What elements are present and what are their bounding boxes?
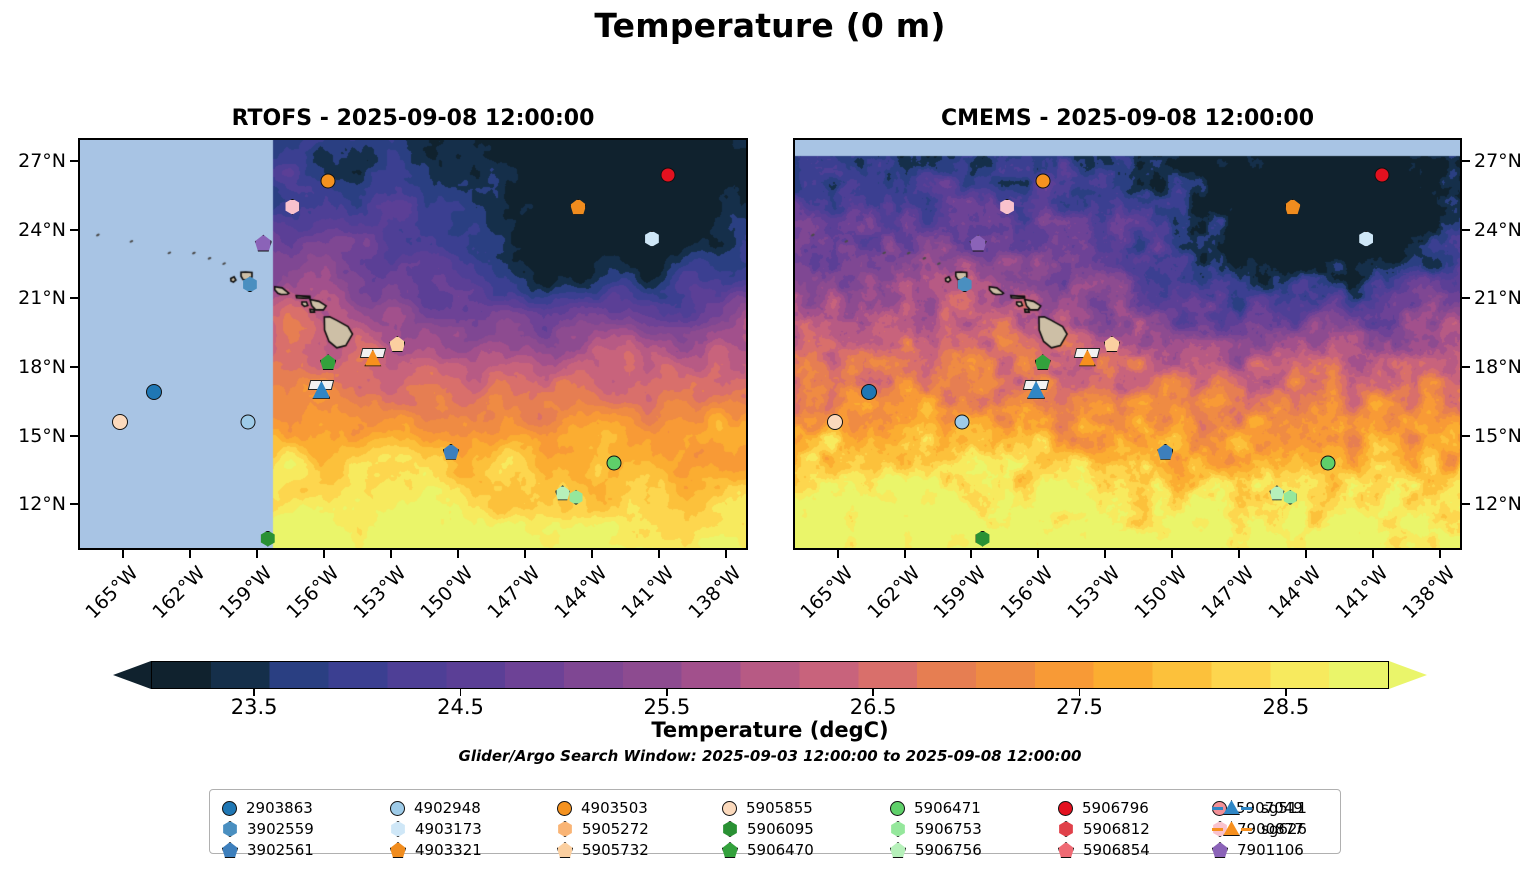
panel-title-rtofs: RTOFS - 2025-09-08 12:00:00 bbox=[78, 106, 748, 131]
legend-swatch-5905855 bbox=[722, 801, 737, 816]
legend-swatch-3902561 bbox=[222, 842, 238, 858]
x-tick-label-165°W: 165°W bbox=[777, 562, 858, 643]
y-tick-label-15°N: 15°N bbox=[18, 425, 66, 447]
colorbar[interactable] bbox=[113, 661, 1427, 689]
x-tick-label-147°W: 147°W bbox=[1178, 562, 1259, 643]
y-tick-mark bbox=[1462, 229, 1470, 231]
legend-swatch-sg511 bbox=[1223, 800, 1240, 815]
legend-label-sg626: sg626 bbox=[1261, 820, 1307, 838]
legend-glider-line-left-sg511 bbox=[1212, 807, 1223, 810]
y-tick-mark bbox=[70, 503, 78, 505]
x-tick-mark bbox=[970, 550, 972, 558]
legend-item-5906470[interactable]: 5906470 bbox=[722, 840, 814, 860]
legend-label-4903173: 4903173 bbox=[415, 820, 482, 838]
map-marker-4902948-rtofs[interactable] bbox=[240, 414, 255, 429]
x-tick-label-162°W: 162°W bbox=[129, 562, 210, 643]
colorbar-over-arrow bbox=[1389, 661, 1427, 689]
temperature-field-rtofs bbox=[80, 140, 746, 548]
x-tick-label-156°W: 156°W bbox=[263, 562, 344, 643]
y-tick-label-12°N: 12°N bbox=[1474, 493, 1522, 515]
map-marker-5905855-rtofs[interactable] bbox=[112, 414, 128, 430]
legend-swatch-5905732 bbox=[557, 842, 573, 858]
colorbar-tick-label-23.5: 23.5 bbox=[231, 695, 278, 719]
y-tick-mark bbox=[1462, 297, 1470, 299]
x-tick-label-141°W: 141°W bbox=[598, 562, 679, 643]
legend-item-5906095[interactable]: 5906095 bbox=[722, 819, 814, 839]
legend-label-5906812: 5906812 bbox=[1083, 820, 1150, 838]
legend-label-4903321: 4903321 bbox=[415, 841, 482, 859]
x-tick-mark bbox=[323, 550, 325, 558]
x-tick-mark bbox=[256, 550, 258, 558]
y-tick-mark bbox=[70, 160, 78, 162]
x-tick-mark bbox=[524, 550, 526, 558]
legend-swatch-4903503 bbox=[557, 801, 572, 816]
legend-item-5905855[interactable]: 5905855 bbox=[722, 798, 813, 818]
map-marker-5905855-cmems[interactable] bbox=[827, 414, 843, 430]
legend-glider-swatch-sg626 bbox=[1212, 820, 1252, 838]
y-tick-label-18°N: 18°N bbox=[1474, 356, 1522, 378]
legend-swatch-5906471 bbox=[890, 801, 905, 816]
temperature-contour-canvas-cmems bbox=[795, 140, 1462, 550]
legend-item-4903503[interactable]: 4903503 bbox=[557, 798, 648, 818]
legend-item-4903173[interactable]: 4903173 bbox=[390, 819, 482, 839]
x-tick-mark bbox=[1171, 550, 1173, 558]
legend-swatch-4903173 bbox=[390, 821, 406, 837]
legend-label-5905855: 5905855 bbox=[746, 799, 813, 817]
y-tick-mark bbox=[1462, 503, 1470, 505]
map-marker-5906471-rtofs[interactable] bbox=[607, 456, 622, 471]
legend-label-7901106: 7901106 bbox=[1237, 841, 1304, 859]
legend-item-3902559[interactable]: 3902559 bbox=[222, 819, 314, 839]
legend-label-sg511: sg511 bbox=[1261, 799, 1307, 817]
map-marker-5906471-cmems[interactable] bbox=[1321, 456, 1336, 471]
y-tick-label-18°N: 18°N bbox=[18, 356, 66, 378]
map-panel-rtofs[interactable] bbox=[78, 138, 748, 550]
x-tick-mark bbox=[1238, 550, 1240, 558]
legend-item-5905732[interactable]: 5905732 bbox=[557, 840, 649, 860]
x-tick-mark bbox=[591, 550, 593, 558]
legend-swatch-4902948 bbox=[390, 801, 405, 816]
x-tick-mark bbox=[1372, 550, 1374, 558]
temperature-field-cmems bbox=[795, 140, 1460, 548]
map-marker-4903503-rtofs[interactable] bbox=[321, 174, 336, 189]
legend-glider-swatch-sg511 bbox=[1212, 799, 1252, 817]
legend-label-5906796: 5906796 bbox=[1082, 799, 1149, 817]
figure-canvas: Temperature (0 m) RTOFS - 2025-09-08 12:… bbox=[0, 0, 1540, 889]
legend-item-5906796[interactable]: 5906796 bbox=[1058, 798, 1149, 818]
y-tick-mark bbox=[1462, 366, 1470, 368]
x-tick-label-138°W: 138°W bbox=[1379, 562, 1460, 643]
legend-label-5906471: 5906471 bbox=[914, 799, 981, 817]
colorbar-tick-label-27.5: 27.5 bbox=[1056, 695, 1103, 719]
x-tick-mark bbox=[1439, 550, 1441, 558]
legend-item-5906753[interactable]: 5906753 bbox=[890, 819, 982, 839]
legend-swatch-4903321 bbox=[390, 842, 406, 858]
legend-glider-line-left-sg626 bbox=[1212, 828, 1223, 831]
legend-swatch-2903863 bbox=[222, 801, 237, 816]
legend-item-sg511[interactable]: sg511 bbox=[1212, 798, 1307, 818]
y-tick-mark bbox=[70, 229, 78, 231]
y-tick-label-24°N: 24°N bbox=[1474, 219, 1522, 241]
y-tick-mark bbox=[70, 435, 78, 437]
legend-label-4902948: 4902948 bbox=[414, 799, 481, 817]
x-tick-mark bbox=[837, 550, 839, 558]
legend-swatch-5906796 bbox=[1058, 801, 1073, 816]
y-tick-label-15°N: 15°N bbox=[1474, 425, 1522, 447]
map-marker-2903863-cmems[interactable] bbox=[861, 384, 877, 400]
legend-swatch-5906854 bbox=[1058, 842, 1074, 858]
x-tick-label-150°W: 150°W bbox=[397, 562, 478, 643]
colorbar-tick-label-28.5: 28.5 bbox=[1262, 695, 1309, 719]
legend-glider-line-right-sg511 bbox=[1241, 807, 1252, 810]
x-tick-label-153°W: 153°W bbox=[330, 562, 411, 643]
legend-item-4903321[interactable]: 4903321 bbox=[390, 840, 482, 860]
legend-label-3902561: 3902561 bbox=[247, 841, 314, 859]
legend-swatch-5906756 bbox=[890, 842, 906, 858]
x-tick-mark bbox=[904, 550, 906, 558]
x-tick-label-144°W: 144°W bbox=[1245, 562, 1326, 643]
colorbar-label: Temperature (degC) bbox=[0, 718, 1540, 742]
legend-item-3902561[interactable]: 3902561 bbox=[222, 840, 314, 860]
legend-item-5905272[interactable]: 5905272 bbox=[557, 819, 649, 839]
x-tick-label-156°W: 156°W bbox=[977, 562, 1058, 643]
legend-item-2903863[interactable]: 2903863 bbox=[222, 798, 313, 818]
x-tick-mark bbox=[390, 550, 392, 558]
map-marker-5906796-cmems[interactable] bbox=[1374, 167, 1389, 182]
x-tick-label-147°W: 147°W bbox=[464, 562, 545, 643]
y-tick-mark bbox=[70, 366, 78, 368]
y-tick-mark bbox=[1462, 435, 1470, 437]
map-marker-2903863-rtofs[interactable] bbox=[146, 384, 162, 400]
x-tick-label-144°W: 144°W bbox=[531, 562, 612, 643]
legend-label-5906854: 5906854 bbox=[1083, 841, 1150, 859]
x-tick-mark bbox=[1037, 550, 1039, 558]
legend-item-5906756[interactable]: 5906756 bbox=[890, 840, 982, 860]
legend-item-5906471[interactable]: 5906471 bbox=[890, 798, 981, 818]
colorbar-tick-label-25.5: 25.5 bbox=[643, 695, 690, 719]
y-tick-label-27°N: 27°N bbox=[18, 150, 66, 172]
legend-label-2903863: 2903863 bbox=[246, 799, 313, 817]
map-panel-cmems[interactable] bbox=[793, 138, 1462, 550]
x-tick-label-138°W: 138°W bbox=[665, 562, 746, 643]
legend-swatch-sg626 bbox=[1223, 821, 1240, 836]
map-marker-4903503-cmems[interactable] bbox=[1035, 174, 1050, 189]
y-tick-mark bbox=[1462, 160, 1470, 162]
temperature-contour-canvas-rtofs bbox=[80, 140, 748, 550]
legend[interactable]: 2903863390255939025614902948490317349033… bbox=[209, 789, 1341, 854]
legend-swatch-5906095 bbox=[722, 821, 738, 837]
x-tick-mark bbox=[1305, 550, 1307, 558]
y-tick-label-21°N: 21°N bbox=[18, 287, 66, 309]
legend-swatch-3902559 bbox=[222, 821, 238, 837]
legend-swatch-7901106 bbox=[1212, 842, 1228, 858]
legend-label-5906470: 5906470 bbox=[747, 841, 814, 859]
legend-swatch-5905272 bbox=[557, 821, 573, 837]
y-tick-mark bbox=[70, 297, 78, 299]
x-tick-label-150°W: 150°W bbox=[1111, 562, 1192, 643]
y-tick-label-21°N: 21°N bbox=[1474, 287, 1522, 309]
legend-item-7901106[interactable]: 7901106 bbox=[1212, 840, 1304, 860]
legend-label-5906753: 5906753 bbox=[915, 820, 982, 838]
legend-item-sg626[interactable]: sg626 bbox=[1212, 819, 1307, 839]
legend-swatch-5906470 bbox=[722, 842, 738, 858]
legend-item-5906854[interactable]: 5906854 bbox=[1058, 840, 1150, 860]
colorbar-gradient bbox=[151, 661, 1389, 689]
x-tick-label-159°W: 159°W bbox=[196, 562, 277, 643]
colorbar-under-arrow bbox=[113, 661, 151, 689]
x-tick-label-162°W: 162°W bbox=[843, 562, 924, 643]
page-title: Temperature (0 m) bbox=[0, 6, 1540, 45]
legend-label-5905732: 5905732 bbox=[582, 841, 649, 859]
x-tick-mark bbox=[122, 550, 124, 558]
y-tick-label-24°N: 24°N bbox=[18, 219, 66, 241]
legend-label-5906756: 5906756 bbox=[915, 841, 982, 859]
panel-title-cmems: CMEMS - 2025-09-08 12:00:00 bbox=[793, 106, 1462, 131]
x-tick-mark bbox=[189, 550, 191, 558]
x-tick-label-141°W: 141°W bbox=[1312, 562, 1393, 643]
colorbar-tick-label-26.5: 26.5 bbox=[850, 695, 897, 719]
legend-label-5905272: 5905272 bbox=[582, 820, 649, 838]
x-tick-label-165°W: 165°W bbox=[62, 562, 143, 643]
legend-item-4902948[interactable]: 4902948 bbox=[390, 798, 481, 818]
y-tick-label-12°N: 12°N bbox=[18, 493, 66, 515]
x-tick-mark bbox=[725, 550, 727, 558]
legend-label-5906095: 5906095 bbox=[747, 820, 814, 838]
legend-swatch-5906812 bbox=[1058, 821, 1074, 837]
x-tick-mark bbox=[1104, 550, 1106, 558]
y-tick-label-27°N: 27°N bbox=[1474, 150, 1522, 172]
x-tick-mark bbox=[658, 550, 660, 558]
legend-label-4903503: 4903503 bbox=[581, 799, 648, 817]
legend-swatch-5906753 bbox=[890, 821, 906, 837]
x-tick-mark bbox=[457, 550, 459, 558]
legend-glider-line-right-sg626 bbox=[1241, 828, 1252, 831]
colorbar-tick-label-24.5: 24.5 bbox=[437, 695, 484, 719]
x-tick-label-159°W: 159°W bbox=[910, 562, 991, 643]
x-tick-label-153°W: 153°W bbox=[1044, 562, 1125, 643]
legend-item-5906812[interactable]: 5906812 bbox=[1058, 819, 1150, 839]
map-marker-4902948-cmems[interactable] bbox=[955, 414, 970, 429]
search-window-text: Glider/Argo Search Window: 2025-09-03 12… bbox=[0, 747, 1540, 765]
legend-label-3902559: 3902559 bbox=[247, 820, 314, 838]
map-marker-5906796-rtofs[interactable] bbox=[660, 167, 675, 182]
